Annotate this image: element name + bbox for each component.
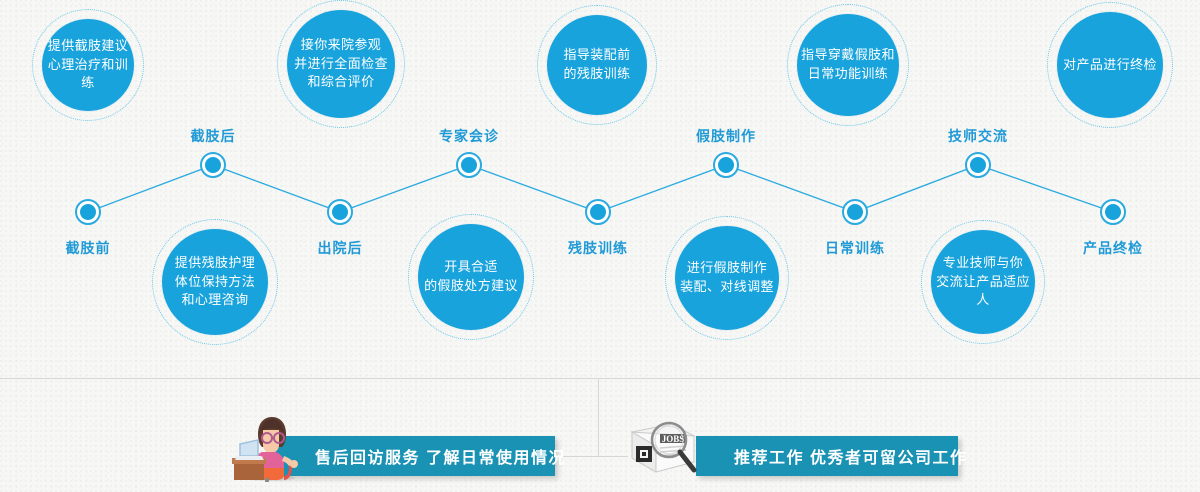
stage-label-prosthesis-make: 假肢制作 <box>696 126 756 146</box>
stage-label-post-discharge: 出院后 <box>318 238 363 258</box>
info-bubble-stump-care-bubble[interactable]: 提供残肢护理 体位保持方法 和心理咨询 <box>162 229 268 335</box>
info-bubble-final-check-bubble[interactable]: 对产品进行终检 <box>1057 12 1163 118</box>
svg-text:JOBS: JOBS <box>662 434 685 444</box>
section-divider-horizontal <box>0 378 1200 379</box>
info-bubble-wear-guidance-bubble[interactable]: 指导穿戴假肢和 日常功能训练 <box>797 14 899 116</box>
info-bubble-text: 对产品进行终检 <box>1063 56 1157 75</box>
info-bubble-pre-fitting-bubble[interactable]: 指导装配前 的残肢训练 <box>547 15 647 115</box>
section-divider-vertical <box>598 378 599 456</box>
banner-label-job-referral: 推荐工作 优秀者可留公司工作 <box>734 444 967 468</box>
info-bubble-text: 指导穿戴假肢和 日常功能训练 <box>801 46 895 84</box>
flow-node-daily-training[interactable] <box>842 199 868 225</box>
info-bubble-text: 进行假肢制作 装配、对线调整 <box>680 259 774 297</box>
stage-label-final-check: 产品终检 <box>1083 238 1143 258</box>
info-bubble-technician-bubble[interactable]: 专业技师与你 交流让产品适应人 <box>931 230 1035 334</box>
flow-node-post-discharge[interactable] <box>327 199 353 225</box>
info-bubble-text: 提供残肢护理 体位保持方法 和心理咨询 <box>175 254 255 311</box>
info-bubble-pre-amputation-bubble[interactable]: 提供截肢建议 心理治疗和训练 <box>42 19 134 111</box>
stage-label-technician-talk: 技师交流 <box>948 126 1008 146</box>
banner-after-sales[interactable]: 售后回访服务 了解日常使用情况 <box>267 436 555 476</box>
banner-job-referral[interactable]: 推荐工作 优秀者可留公司工作 <box>696 436 958 476</box>
stage-label-post-amputation: 截肢后 <box>191 126 236 146</box>
flow-node-prosthesis-make[interactable] <box>713 152 739 178</box>
stage-label-daily-training: 日常训练 <box>825 238 885 258</box>
banner-label-after-sales: 售后回访服务 了解日常使用情况 <box>315 444 566 468</box>
info-bubble-prescription-bubble[interactable]: 开具合适 的假肢处方建议 <box>418 224 524 330</box>
flow-node-pre-amputation[interactable] <box>75 199 101 225</box>
flow-node-post-amputation[interactable] <box>200 152 226 178</box>
info-bubble-assembly-bubble[interactable]: 进行假肢制作 装配、对线调整 <box>675 226 779 330</box>
info-bubble-text: 专业技师与你 交流让产品适应人 <box>931 254 1035 311</box>
stage-label-expert-consult: 专家会诊 <box>439 126 499 146</box>
info-bubble-text: 指导装配前 的残肢训练 <box>563 46 630 84</box>
flow-node-stump-training[interactable] <box>585 199 611 225</box>
flow-node-expert-consult[interactable] <box>456 152 482 178</box>
info-bubble-text: 接你来院参观 并进行全面检查 和综合评价 <box>294 36 388 93</box>
info-bubble-text: 提供截肢建议 心理治疗和训练 <box>42 37 134 94</box>
flow-node-technician-talk[interactable] <box>965 152 991 178</box>
info-bubble-visit-bubble[interactable]: 接你来院参观 并进行全面检查 和综合评价 <box>287 10 395 118</box>
jobs-magnifier-icon: JOBS <box>628 416 698 483</box>
info-bubble-text: 开具合适 的假肢处方建议 <box>424 258 518 296</box>
flow-node-final-check[interactable] <box>1100 199 1126 225</box>
stage-label-pre-amputation: 截肢前 <box>66 238 111 258</box>
prosthetics-service-flow-infographic: 截肢前截肢后出院后专家会诊残肢训练假肢制作日常训练技师交流产品终检提供截肢建议 … <box>0 0 1200 492</box>
stage-label-stump-training: 残肢训练 <box>568 238 628 258</box>
